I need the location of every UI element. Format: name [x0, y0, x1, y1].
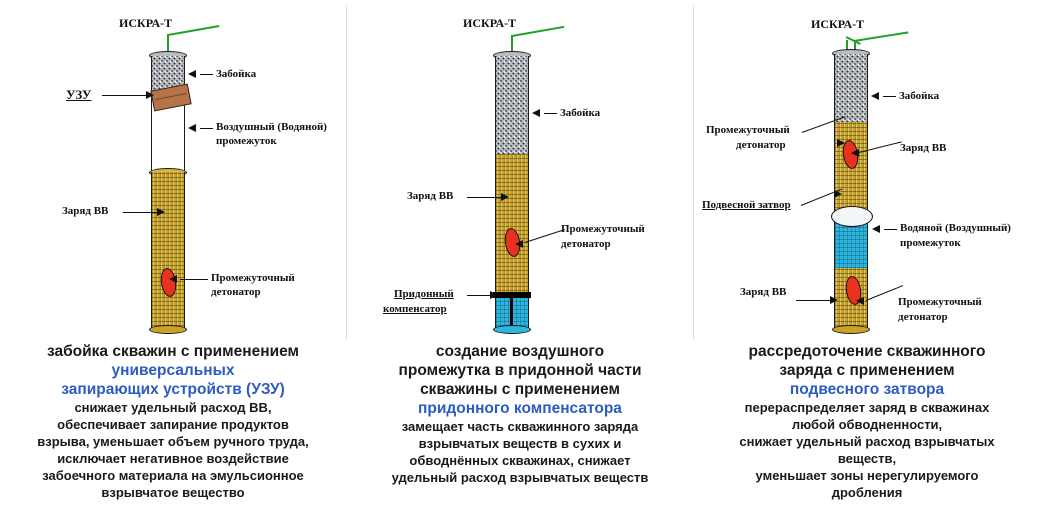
borehole-bottom-rim [493, 325, 530, 334]
arrow-detonator-upper [837, 139, 845, 147]
arrow-stemming [532, 109, 540, 117]
panel-bottom-compensator: ИСКРА-Т Забойка Заряд ВВ [347, 0, 693, 340]
label-charge: Заряд ВВ [407, 190, 453, 203]
caption-head-line: промежутка в придонной части [353, 361, 687, 380]
label-detonator-upper-line1: Промежуточный [706, 124, 790, 137]
caption-panel-suspended-plug: рассредоточение скважинного заряда с при… [694, 340, 1040, 518]
label-air-gap-line2: промежуток [216, 135, 277, 148]
caption-accent-line: придонного компенсатора [353, 399, 687, 418]
arrow-detonator [515, 240, 523, 248]
caption-head-line: создание воздушного [353, 342, 687, 361]
cord-tail-a [854, 31, 909, 42]
caption-head-line: заряда с применением [700, 361, 1034, 380]
caption-body-line: взрывчатое вещество [6, 485, 340, 501]
cord-label-iskra-t: ИСКРА-Т [463, 16, 516, 31]
arrow-detonator-lower [856, 297, 864, 305]
label-plug: Подвесной затвор [702, 199, 791, 212]
diagram-board: ИСКРА-Т Забойка УЗУ [0, 0, 1040, 518]
label-detonator-line1: Промежуточный [211, 272, 295, 285]
caption-body-line: исключает негативное воздействие [6, 451, 340, 467]
caption-head-line: скважины с применением [353, 380, 687, 399]
caption-body-line: обводнённых скважинах, снижает [353, 453, 687, 469]
arrow-charge-lower [830, 296, 838, 304]
label-charge: Заряд ВВ [62, 205, 108, 218]
arrow-air-gap [188, 124, 196, 132]
leader-stemming [200, 74, 213, 75]
caption-body-line: замещает часть скважинного заряда [353, 419, 687, 435]
cord-label-iskra-t: ИСКРА-Т [811, 17, 864, 32]
caption-body-line: обеспечивает запирание продуктов [6, 417, 340, 433]
arrow-stemming [871, 92, 879, 100]
panel-suspended-plug: ИСКРА-Т Забойка Пром [694, 0, 1040, 340]
label-stemming: Забойка [216, 68, 256, 81]
leader-compensator [467, 295, 491, 296]
caption-body-line: удельный расход взрывчатых веществ [353, 470, 687, 486]
caption-panel-bottom-compensator: создание воздушного промежутка в придонн… [347, 340, 693, 518]
caption-accent-line: запирающих устройств (УЗУ) [6, 380, 340, 399]
arrow-charge-upper [851, 149, 859, 157]
stemming-section [834, 54, 868, 122]
label-detonator-lower-line1: Промежуточный [898, 296, 982, 309]
caption-body-line: взрыва, уменьшает объем ручного труда, [6, 434, 340, 450]
label-stemming: Забойка [899, 90, 939, 103]
leader-uzu [102, 95, 146, 96]
borehole-bottom-rim [149, 325, 186, 334]
leader-stemming [544, 113, 557, 114]
arrow-charge [501, 193, 509, 201]
borehole-bottom-rim [832, 325, 869, 334]
leader-water-gap [884, 229, 897, 230]
label-detonator-lower-line2: детонатор [898, 311, 948, 324]
leader-charge [467, 197, 502, 198]
label-detonator-line1: Промежуточный [561, 223, 645, 236]
arrow-detonator [169, 275, 177, 283]
leader-stemming [883, 96, 896, 97]
caption-body-line: взрывчатых веществ в сухих и [353, 436, 687, 452]
caption-body-line: снижает удельный расход ВВ, [6, 400, 340, 416]
label-water-gap-line1: Водяной (Воздушный) [900, 222, 1011, 235]
caption-body-line: перераспределяет заряд в скважинах [700, 400, 1034, 416]
suspended-plug [831, 206, 873, 227]
caption-panel-uzu: забойка скважин с применением универсаль… [0, 340, 346, 518]
explosive-charge-section [151, 172, 185, 330]
explosive-charge-section [495, 154, 529, 295]
cord-label-iskra-t: ИСКРА-Т [119, 16, 172, 31]
leader-detonator [180, 279, 208, 280]
label-compensator-line1: Придонный [394, 288, 454, 301]
caption-body-line: уменьшает зоны нерегулируемого [700, 468, 1034, 484]
caption-body-line: веществ, [700, 451, 1034, 467]
leader-air-gap [200, 128, 213, 129]
leader-charge [123, 212, 158, 213]
arrow-water-gap [872, 225, 880, 233]
label-charge-lower: Заряд ВВ [740, 286, 786, 299]
caption-body-line: любой обводненности, [700, 417, 1034, 433]
caption-accent-line: подвесного затвора [700, 380, 1034, 399]
label-uzu: УЗУ [66, 88, 91, 101]
arrow-plug [834, 190, 842, 198]
stemming-section [495, 56, 529, 154]
arrow-charge [157, 208, 165, 216]
label-detonator-upper-line2: детонатор [736, 139, 786, 152]
caption-accent-line: универсальных [6, 361, 340, 380]
caption-body-line: снижает удельный расход взрывчатых [700, 434, 1034, 450]
label-compensator-line2: компенсатор [383, 303, 447, 316]
panel-uzu: ИСКРА-Т Забойка УЗУ [0, 0, 346, 340]
arrow-compensator [490, 291, 498, 299]
label-stemming: Забойка [560, 107, 600, 120]
cord-tail [512, 26, 565, 38]
leader-charge-lower [796, 300, 834, 301]
arrow-uzu [146, 91, 154, 99]
caption-head-line: забойка скважин с применением [6, 342, 340, 361]
caption-body-line: дробления [700, 485, 1034, 501]
label-detonator-line2: детонатор [211, 286, 261, 299]
label-charge-upper: Заряд ВВ [900, 142, 946, 155]
caption-head-line: рассредоточение скважинного [700, 342, 1034, 361]
cord-tail [168, 25, 220, 36]
arrow-stemming [188, 70, 196, 78]
caption-body-line: забоечного материала на эмульсионное [6, 468, 340, 484]
leader-detonator [525, 229, 565, 243]
label-water-gap-line2: промежуток [900, 237, 961, 250]
label-air-gap-line1: Воздушный (Водяной) [216, 121, 327, 134]
label-detonator-line2: детонатор [561, 238, 611, 251]
